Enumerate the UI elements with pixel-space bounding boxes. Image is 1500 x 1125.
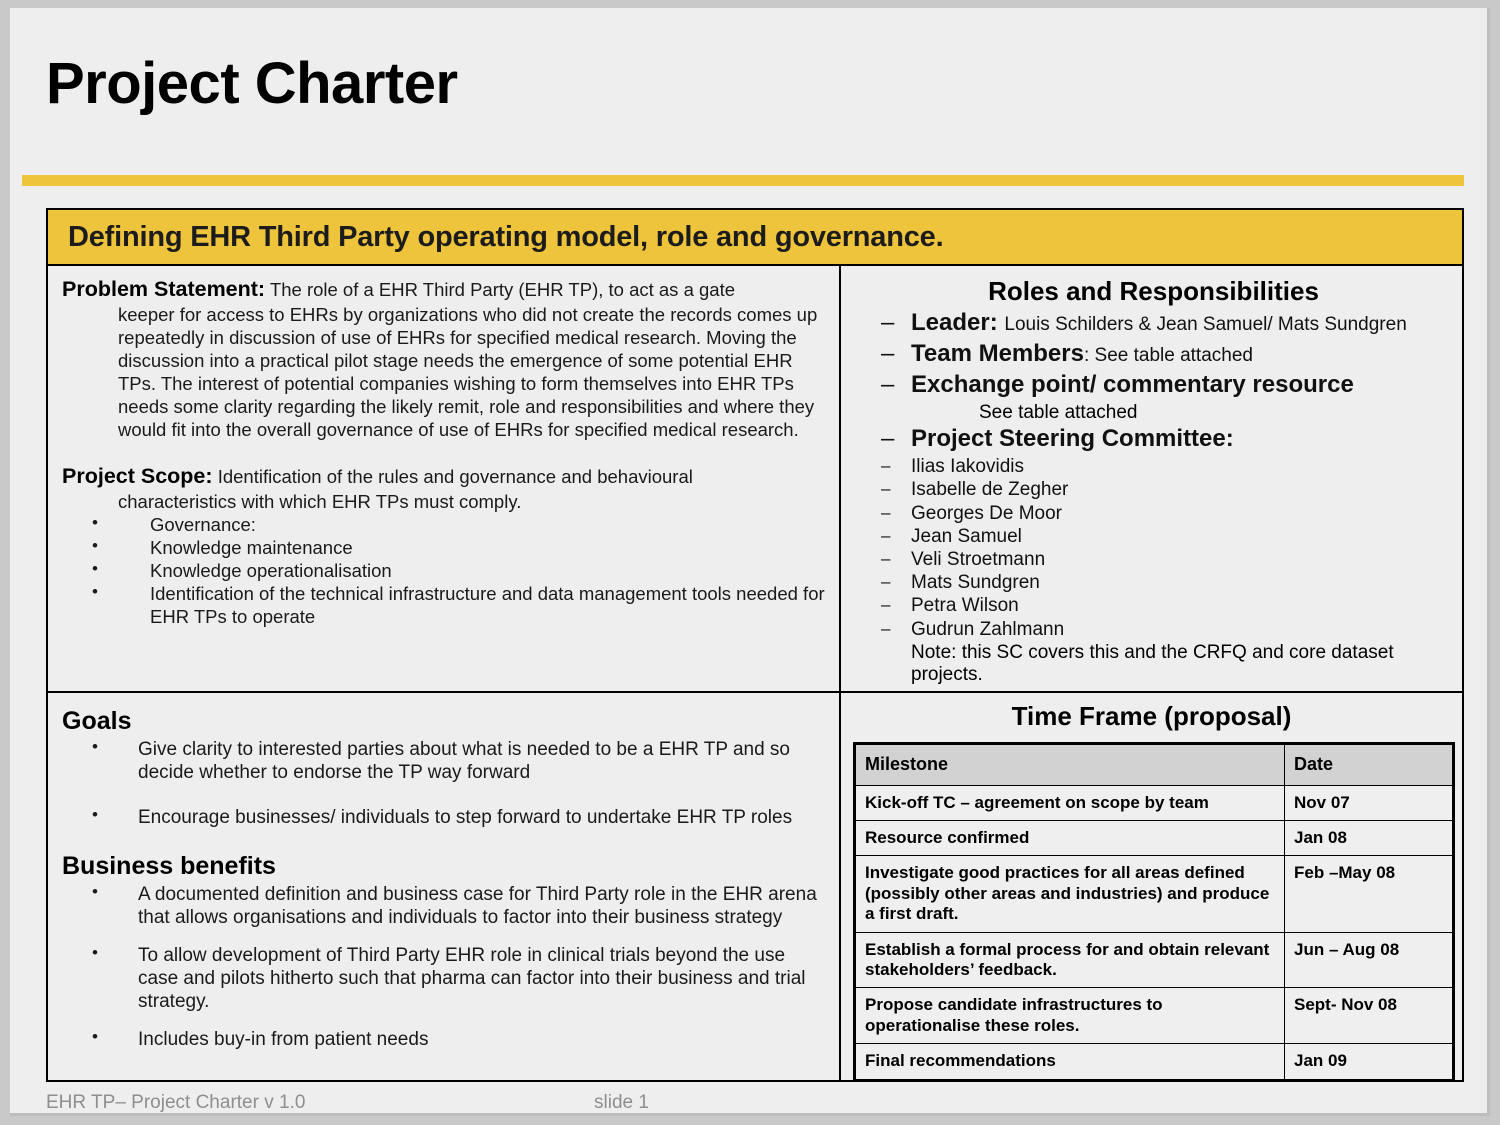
roles-heading: Roles and Responsibilities bbox=[855, 276, 1452, 307]
roles-team-label: Team Members bbox=[911, 340, 1084, 367]
list-item: Jean Samuel bbox=[855, 526, 1452, 548]
list-item: Knowledge operationalisation bbox=[62, 559, 827, 582]
charter-banner: Defining EHR Third Party operating model… bbox=[48, 210, 1462, 266]
cell-date: Jun – Aug 08 bbox=[1285, 932, 1454, 988]
roles-psc-list: Project Steering Committee: Ilias Iakovi… bbox=[855, 425, 1452, 641]
cell-date: Sept- Nov 08 bbox=[1285, 988, 1454, 1044]
panel-problem-scope: Problem Statement: The role of a EHR Thi… bbox=[48, 268, 839, 691]
list-item: Veli Stroetmann bbox=[855, 549, 1452, 571]
panel-goals-benefits: Goals Give clarity to interested parties… bbox=[48, 693, 839, 1082]
cell-milestone: Kick-off TC – agreement on scope by team bbox=[855, 785, 1285, 820]
roles-psc-note: Note: this SC covers this and the CRFQ a… bbox=[855, 642, 1452, 687]
benefits-heading: Business benefits bbox=[62, 852, 825, 881]
table-row: Resource confirmed Jan 08 bbox=[855, 820, 1454, 855]
list-item: Give clarity to interested parties about… bbox=[62, 738, 825, 784]
roles-team-members: Team Members: See table attached bbox=[855, 340, 1452, 368]
cell-date: Jan 09 bbox=[1285, 1044, 1454, 1080]
problem-statement-label: Problem Statement: bbox=[62, 277, 265, 301]
list-item: Petra Wilson bbox=[855, 595, 1452, 617]
roles-exchange-point: Exchange point/ commentary resource bbox=[855, 371, 1452, 399]
column-header-milestone: Milestone bbox=[855, 744, 1285, 786]
goals-list: Give clarity to interested parties about… bbox=[62, 738, 825, 830]
charter-banner-text: Defining EHR Third Party operating model… bbox=[48, 221, 943, 254]
table-row: Final recommendations Jan 09 bbox=[855, 1044, 1454, 1080]
roles-team-value: : See table attached bbox=[1084, 345, 1253, 366]
roles-leader-value: Louis Schilders & Jean Samuel/ Mats Sund… bbox=[1004, 314, 1406, 335]
problem-statement-line1: The role of a EHR Third Party (EHR TP), … bbox=[270, 279, 735, 300]
cell-date: Feb –May 08 bbox=[1285, 856, 1454, 932]
cell-milestone: Propose candidate infrastructures to ope… bbox=[855, 988, 1285, 1044]
cell-milestone: Resource confirmed bbox=[855, 820, 1285, 855]
roles-list: Leader: Louis Schilders & Jean Samuel/ M… bbox=[855, 309, 1452, 399]
table-row: Establish a formal process for and obtai… bbox=[855, 932, 1454, 988]
timeframe-title: Time Frame (proposal) bbox=[853, 701, 1450, 732]
roles-exchange-sub: See table attached bbox=[855, 402, 1452, 425]
footer-left-text: EHR TP– Project Charter v 1.0 bbox=[46, 1092, 305, 1113]
list-item: Georges De Moor bbox=[855, 503, 1452, 525]
project-scope-line2: characteristics with which EHR TPs must … bbox=[118, 490, 827, 513]
roles-psc-label: Project Steering Committee: bbox=[855, 425, 1452, 453]
slide-footer: EHR TP– Project Charter v 1.0 slide 1 bbox=[46, 1092, 1464, 1114]
cell-milestone: Establish a formal process for and obtai… bbox=[855, 932, 1285, 988]
list-item: Isabelle de Zegher bbox=[855, 479, 1452, 501]
list-item: Gudrun Zahlmann bbox=[855, 619, 1452, 641]
project-scope-list: Governance: Knowledge maintenance Knowle… bbox=[62, 513, 827, 628]
roles-leader: Leader: Louis Schilders & Jean Samuel/ M… bbox=[855, 309, 1452, 337]
footer-slide-number: slide 1 bbox=[594, 1092, 649, 1114]
cell-milestone: Investigate good practices for all areas… bbox=[855, 856, 1285, 932]
project-scope: Project Scope: Identification of the rul… bbox=[62, 463, 827, 513]
timeframe-table: Milestone Date Kick-off TC – agreement o… bbox=[853, 742, 1455, 1082]
list-item: Ilias Iakovidis bbox=[855, 456, 1452, 478]
title-accent-rule bbox=[22, 175, 1464, 186]
list-item: To allow development of Third Party EHR … bbox=[62, 944, 825, 1014]
list-item: A documented definition and business cas… bbox=[62, 883, 825, 929]
cell-date: Nov 07 bbox=[1285, 785, 1454, 820]
roles-leader-label: Leader: bbox=[911, 309, 998, 336]
list-item: Identification of the technical infrastr… bbox=[62, 582, 827, 628]
list-item: Governance: bbox=[62, 513, 827, 536]
table-row: Investigate good practices for all areas… bbox=[855, 856, 1454, 932]
project-scope-label: Project Scope: bbox=[62, 464, 213, 488]
problem-statement-body: keeper for access to EHRs by organizatio… bbox=[118, 303, 827, 441]
table-header-row: Milestone Date bbox=[855, 744, 1454, 786]
panel-roles: Roles and Responsibilities Leader: Louis… bbox=[841, 268, 1462, 691]
table-row: Propose candidate infrastructures to ope… bbox=[855, 988, 1454, 1044]
column-header-date: Date bbox=[1285, 744, 1454, 786]
list-item: Encourage businesses/ individuals to ste… bbox=[62, 806, 825, 829]
benefits-list: A documented definition and business cas… bbox=[62, 883, 825, 1052]
panel-timeframe: Time Frame (proposal) Milestone Date Kic… bbox=[841, 693, 1462, 1082]
charter-frame: Defining EHR Third Party operating model… bbox=[46, 208, 1464, 1082]
spacer bbox=[62, 441, 827, 463]
list-item: Includes buy-in from patient needs bbox=[62, 1028, 825, 1051]
cell-date: Jan 08 bbox=[1285, 820, 1454, 855]
project-scope-line1: Identification of the rules and governan… bbox=[218, 466, 693, 487]
list-item: Knowledge maintenance bbox=[62, 536, 827, 559]
problem-statement: Problem Statement: The role of a EHR Thi… bbox=[62, 276, 827, 441]
cell-milestone: Final recommendations bbox=[855, 1044, 1285, 1080]
page-title: Project Charter bbox=[46, 54, 458, 115]
goals-heading: Goals bbox=[62, 707, 825, 736]
list-item: Mats Sundgren bbox=[855, 572, 1452, 594]
table-row: Kick-off TC – agreement on scope by team… bbox=[855, 785, 1454, 820]
slide-canvas: Project Charter Defining EHR Third Party… bbox=[10, 8, 1490, 1116]
